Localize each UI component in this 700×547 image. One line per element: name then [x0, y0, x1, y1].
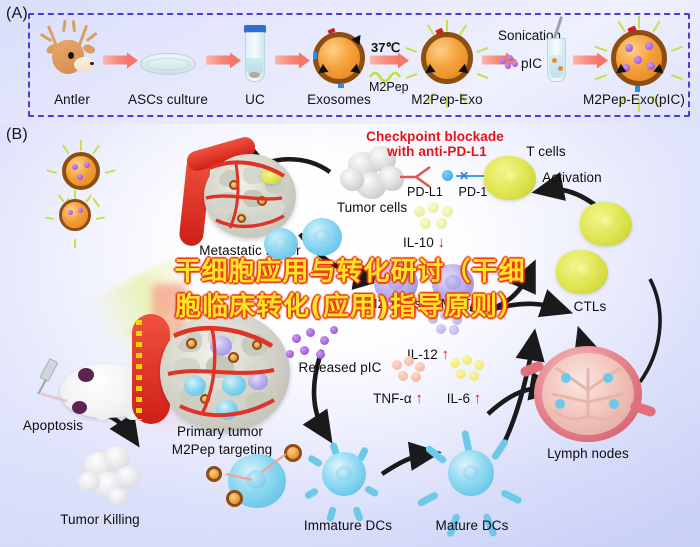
label-mature-dcs: Mature DCs [435, 518, 508, 533]
label-checkpoint-line1: Checkpoint blockade [366, 129, 504, 144]
arrow-sonication-to-final [573, 56, 599, 65]
blockade-x-icon: ✕ [459, 169, 469, 183]
label-apoptosis: Apoptosis [23, 418, 83, 433]
panel-a-label-m2pep-exo: M2Pep-Exo [411, 92, 482, 107]
arrow-exosomes-to-m2pep [370, 56, 400, 65]
label-m2-tams: M2-TAMs [367, 297, 421, 311]
m2-tam-nucleus [388, 274, 405, 290]
panel-a-letter: (A) [6, 5, 28, 23]
t-cell-nucleus [502, 168, 521, 186]
label-activation: Activation [542, 170, 602, 185]
panel-b-letter: (B) [6, 126, 28, 144]
label-tumor-cells: Tumor cells [337, 200, 407, 215]
pd1-ball-icon [442, 170, 453, 181]
label-tumor-killing: Tumor Killing [60, 512, 140, 527]
label-pdl1: PD-L1 [407, 185, 443, 199]
label-immature-dcs: Immature DCs [304, 518, 392, 533]
arrow-antler-to-culture [103, 56, 129, 65]
panel-a-label-asc: ASCs culture [128, 92, 208, 107]
label-ctls: CTLs [574, 299, 607, 314]
label-released-pic: Released pIC [299, 360, 382, 375]
panel-a-temperature: 37℃ [371, 40, 400, 56]
arrow-culture-to-uc [206, 56, 232, 65]
ctl-nucleus-2 [574, 262, 593, 280]
m1-tam-nucleus [445, 275, 461, 290]
label-il6: IL-6 ↑ [447, 390, 482, 407]
panel-a-m2pep-label: M2Pep [369, 80, 409, 94]
panel-a: (A) Antler ASCs culture [0, 0, 700, 124]
panel-a-label-uc: UC [245, 92, 265, 107]
label-tnfa: TNF-α ↑ [373, 390, 423, 407]
label-primary-tumor: Primary tumor [177, 424, 263, 439]
scientific-figure: (A) Antler ASCs culture [0, 0, 700, 547]
blue-macrophage-2-nucleus [274, 237, 288, 250]
label-t-cells: T cells [526, 144, 565, 159]
panel-a-label-antler: Antler [54, 92, 90, 107]
ctl-nucleus-1 [598, 214, 617, 232]
panel-a-label-exosomes: Exosomes [307, 92, 371, 107]
label-il10: IL-10 ↓ [403, 234, 445, 251]
label-checkpoint-line2: with anti-PD-L1 [387, 144, 487, 159]
arrow-uc-to-exosomes [275, 56, 301, 65]
panel-b: (B) [0, 124, 700, 547]
panel-a-pic-label: pIC [521, 56, 542, 71]
label-lymph-nodes: Lymph nodes [547, 446, 629, 461]
panel-a-label-final: M2Pep-Exo(pIC) [583, 92, 685, 107]
label-pd1: PD-1 [459, 185, 488, 199]
blue-macrophage-1-nucleus [314, 229, 330, 244]
label-m1-tams: M1-TAMs [441, 297, 495, 311]
